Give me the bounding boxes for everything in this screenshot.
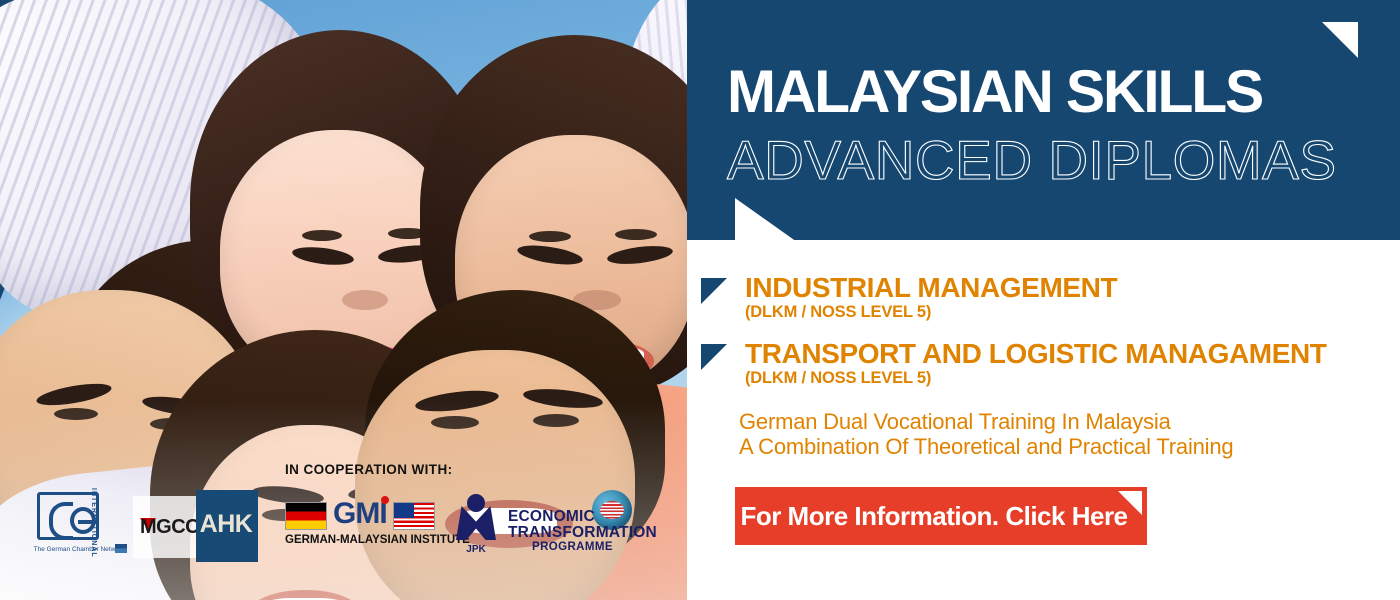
promotional-banner: IN COOPERATION WITH: INTERNATIONAL The G… — [0, 0, 1400, 600]
mgcc-wordmark: MGCC — [140, 516, 199, 539]
page-title: MALAYSIAN SKILLS — [727, 62, 1262, 122]
page-subtitle: ADVANCED DIPLOMAS — [727, 133, 1337, 188]
tagline-block: German Dual Vocational Training In Malay… — [739, 410, 1233, 459]
malaysian-flag-icon — [393, 502, 435, 530]
logo-mgcc-ahk: MGCC AHK — [133, 490, 258, 562]
students-photo: IN COOPERATION WITH: INTERNATIONAL The G… — [0, 0, 687, 600]
eye — [54, 408, 98, 420]
jpk-label: JPK — [452, 544, 500, 555]
more-information-button-label: For More Information. Click Here — [735, 487, 1147, 545]
logo-economic-transformation-programme: ECONOMIC TRANSFORMATION PROGRAMME — [508, 492, 638, 564]
corner-triangle-icon — [1322, 22, 1358, 58]
eye — [431, 416, 479, 429]
triangle-bullet-icon — [701, 344, 727, 370]
de-tagline: The German Chamber Network — [33, 546, 125, 553]
title-band: MALAYSIAN SKILLS ADVANCED DIPLOMAS — [687, 0, 1400, 240]
logo-de-international: INTERNATIONAL The German Chamber Network — [33, 490, 125, 562]
course-title: TRANSPORT AND LOGISTIC MANAGAMENT — [745, 338, 1327, 370]
triangle-bullet-icon — [701, 278, 727, 304]
jpk-head-icon — [467, 494, 485, 512]
gmi-dot-icon — [381, 496, 389, 504]
eyebrow — [414, 387, 500, 415]
eye — [615, 229, 657, 240]
logo-jpk: JPK — [452, 494, 500, 564]
de-flag-icon — [115, 544, 127, 553]
gmi-wordmark: GMI — [333, 497, 387, 531]
german-flag-icon — [285, 502, 327, 530]
ahk-wordmark: AHK — [197, 510, 255, 539]
eye — [529, 231, 571, 242]
eye — [302, 230, 342, 241]
etp-line-2: TRANSFORMATION — [508, 524, 657, 542]
eye — [533, 414, 579, 427]
course-level: (DLKM / NOSS LEVEL 5) — [745, 369, 931, 388]
tagline-line-2: A Combination Of Theoretical and Practic… — [739, 435, 1233, 460]
eyebrow — [516, 242, 584, 268]
eyebrow — [291, 244, 354, 267]
partner-logo-strip: IN COOPERATION WITH: INTERNATIONAL The G… — [0, 468, 687, 578]
gmi-subtitle: GERMAN-MALAYSIAN INSTITUTE — [285, 534, 437, 546]
course-title: INDUSTRIAL MANAGEMENT — [745, 272, 1117, 304]
course-level: (DLKM / NOSS LEVEL 5) — [745, 303, 931, 322]
nose — [342, 290, 388, 310]
eyebrow — [522, 386, 603, 411]
cooperation-label: IN COOPERATION WITH: — [285, 462, 453, 477]
logo-gmi: GMI GERMAN-MALAYSIAN INSTITUTE — [285, 498, 437, 560]
eyebrow — [606, 243, 673, 267]
more-information-button[interactable]: For More Information. Click Here — [735, 487, 1147, 545]
content-panel: MALAYSIAN SKILLS ADVANCED DIPLOMAS INDUS… — [687, 0, 1400, 600]
smile — [250, 590, 360, 600]
etp-line-3: PROGRAMME — [532, 541, 613, 553]
tagline-line-1: German Dual Vocational Training In Malay… — [739, 410, 1233, 435]
eyebrow — [35, 380, 113, 410]
